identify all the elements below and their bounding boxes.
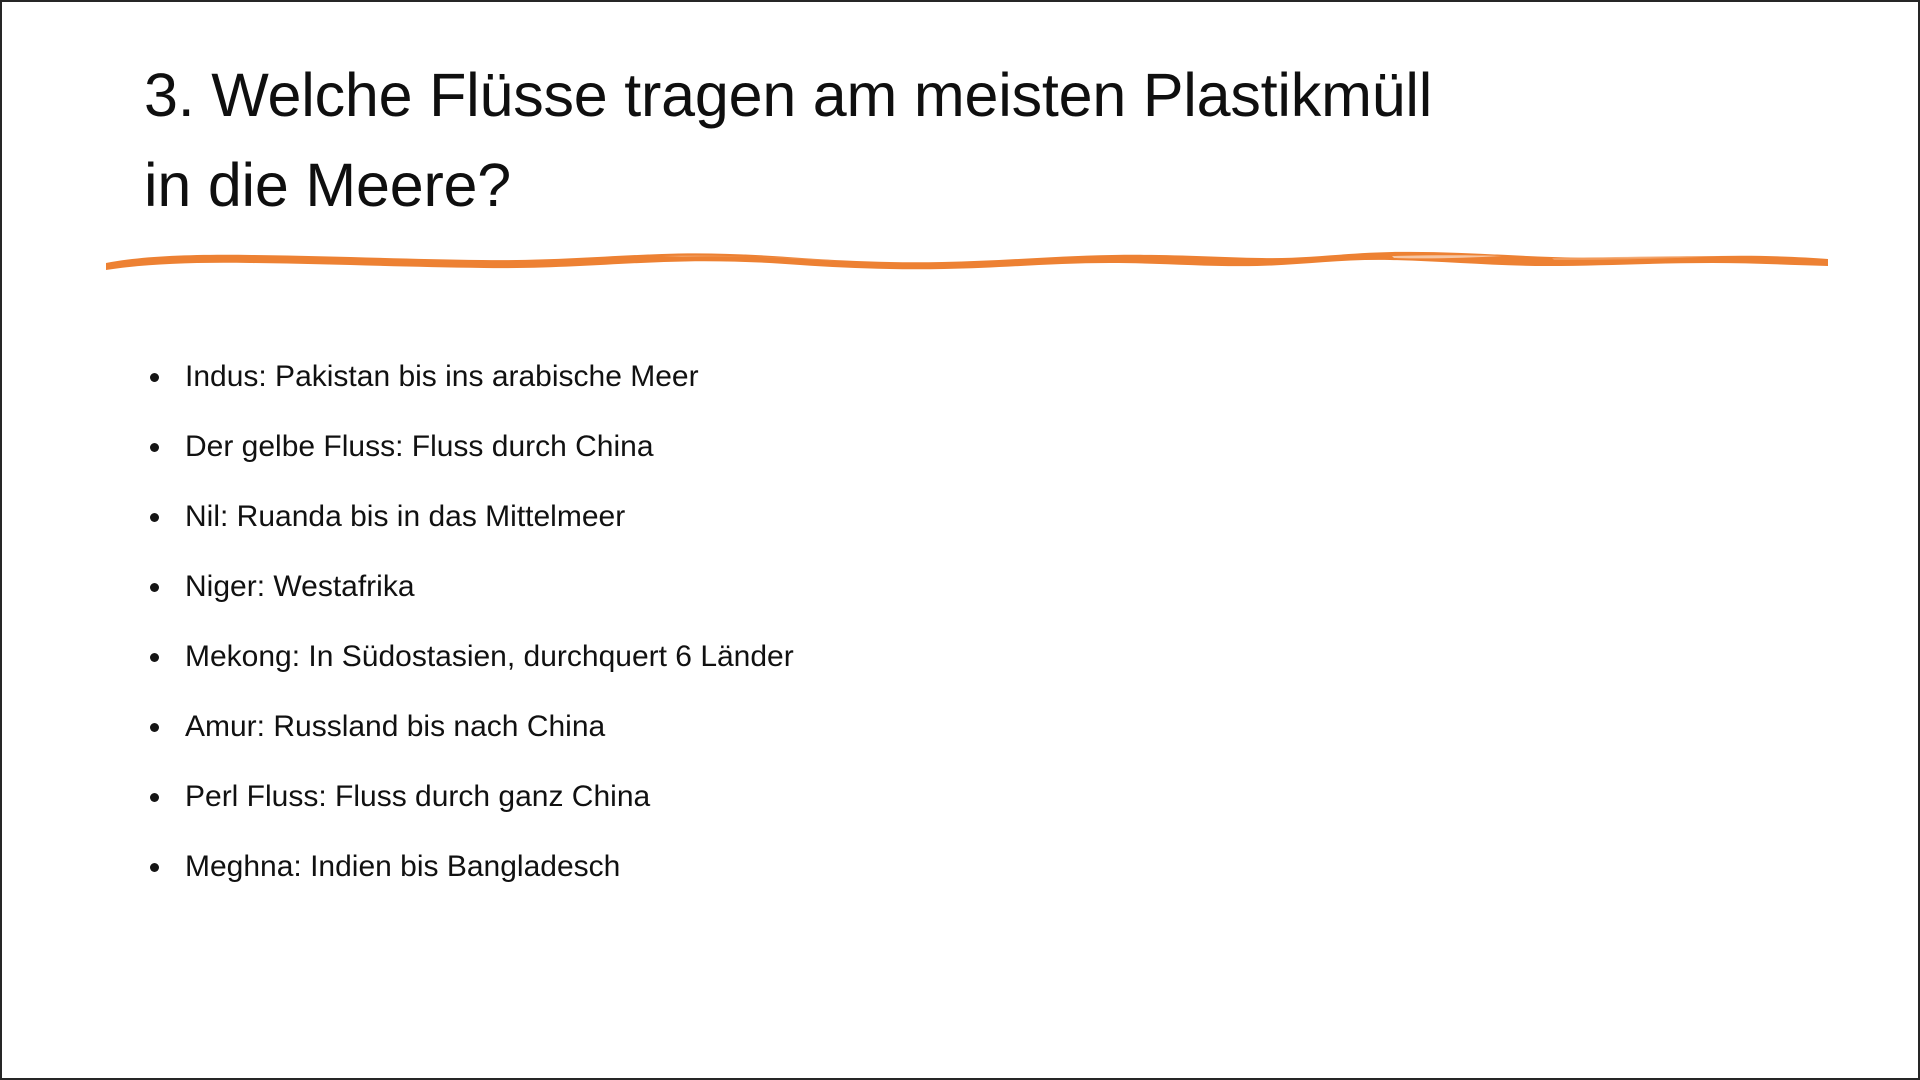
list-item: Der gelbe Fluss: Fluss durch China bbox=[144, 412, 1844, 482]
bullet-list: Indus: Pakistan bis ins arabische Meer D… bbox=[144, 342, 1844, 902]
brush-stroke-path bbox=[106, 252, 1828, 270]
list-item-label: Nil: Ruanda bis in das Mittelmeer bbox=[185, 497, 625, 537]
list-item: Niger: Westafrika bbox=[144, 552, 1844, 622]
list-item: Amur: Russland bis nach China bbox=[144, 692, 1844, 762]
slide-title: 3. Welche Flüsse tragen am meisten Plast… bbox=[144, 50, 1784, 230]
list-item-label: Amur: Russland bis nach China bbox=[185, 707, 605, 747]
bullet-dot-icon bbox=[150, 583, 159, 592]
orange-brush-divider bbox=[102, 242, 1832, 284]
bullet-dot-icon bbox=[150, 653, 159, 662]
list-item-label: Indus: Pakistan bis ins arabische Meer bbox=[185, 357, 699, 397]
list-item: Perl Fluss: Fluss durch ganz China bbox=[144, 762, 1844, 832]
bullet-dot-icon bbox=[150, 443, 159, 452]
brush-highlight-path-3 bbox=[1392, 255, 1502, 258]
list-item: Mekong: In Südostasien, durchquert 6 Län… bbox=[144, 622, 1844, 692]
list-item: Meghna: Indien bis Bangladesch bbox=[144, 832, 1844, 902]
list-item-label: Meghna: Indien bis Bangladesch bbox=[185, 847, 620, 887]
bullet-dot-icon bbox=[150, 793, 159, 802]
slide-title-line-2: in die Meere? bbox=[144, 140, 1784, 230]
bullet-dot-icon bbox=[150, 863, 159, 872]
list-item: Nil: Ruanda bis in das Mittelmeer bbox=[144, 482, 1844, 552]
bullet-dot-icon bbox=[150, 723, 159, 732]
list-item-label: Mekong: In Südostasien, durchquert 6 Län… bbox=[185, 637, 794, 677]
list-item-label: Der gelbe Fluss: Fluss durch China bbox=[185, 427, 654, 467]
presentation-slide: 3. Welche Flüsse tragen am meisten Plast… bbox=[0, 0, 1920, 1080]
list-item-label: Niger: Westafrika bbox=[185, 567, 415, 607]
brush-highlight-path-2 bbox=[1552, 256, 1722, 260]
list-item: Indus: Pakistan bis ins arabische Meer bbox=[144, 342, 1844, 412]
bullet-dot-icon bbox=[150, 513, 159, 522]
brush-highlight-path bbox=[662, 255, 842, 261]
slide-title-line-1: 3. Welche Flüsse tragen am meisten Plast… bbox=[144, 50, 1784, 140]
list-item-label: Perl Fluss: Fluss durch ganz China bbox=[185, 777, 650, 817]
bullet-dot-icon bbox=[150, 373, 159, 382]
